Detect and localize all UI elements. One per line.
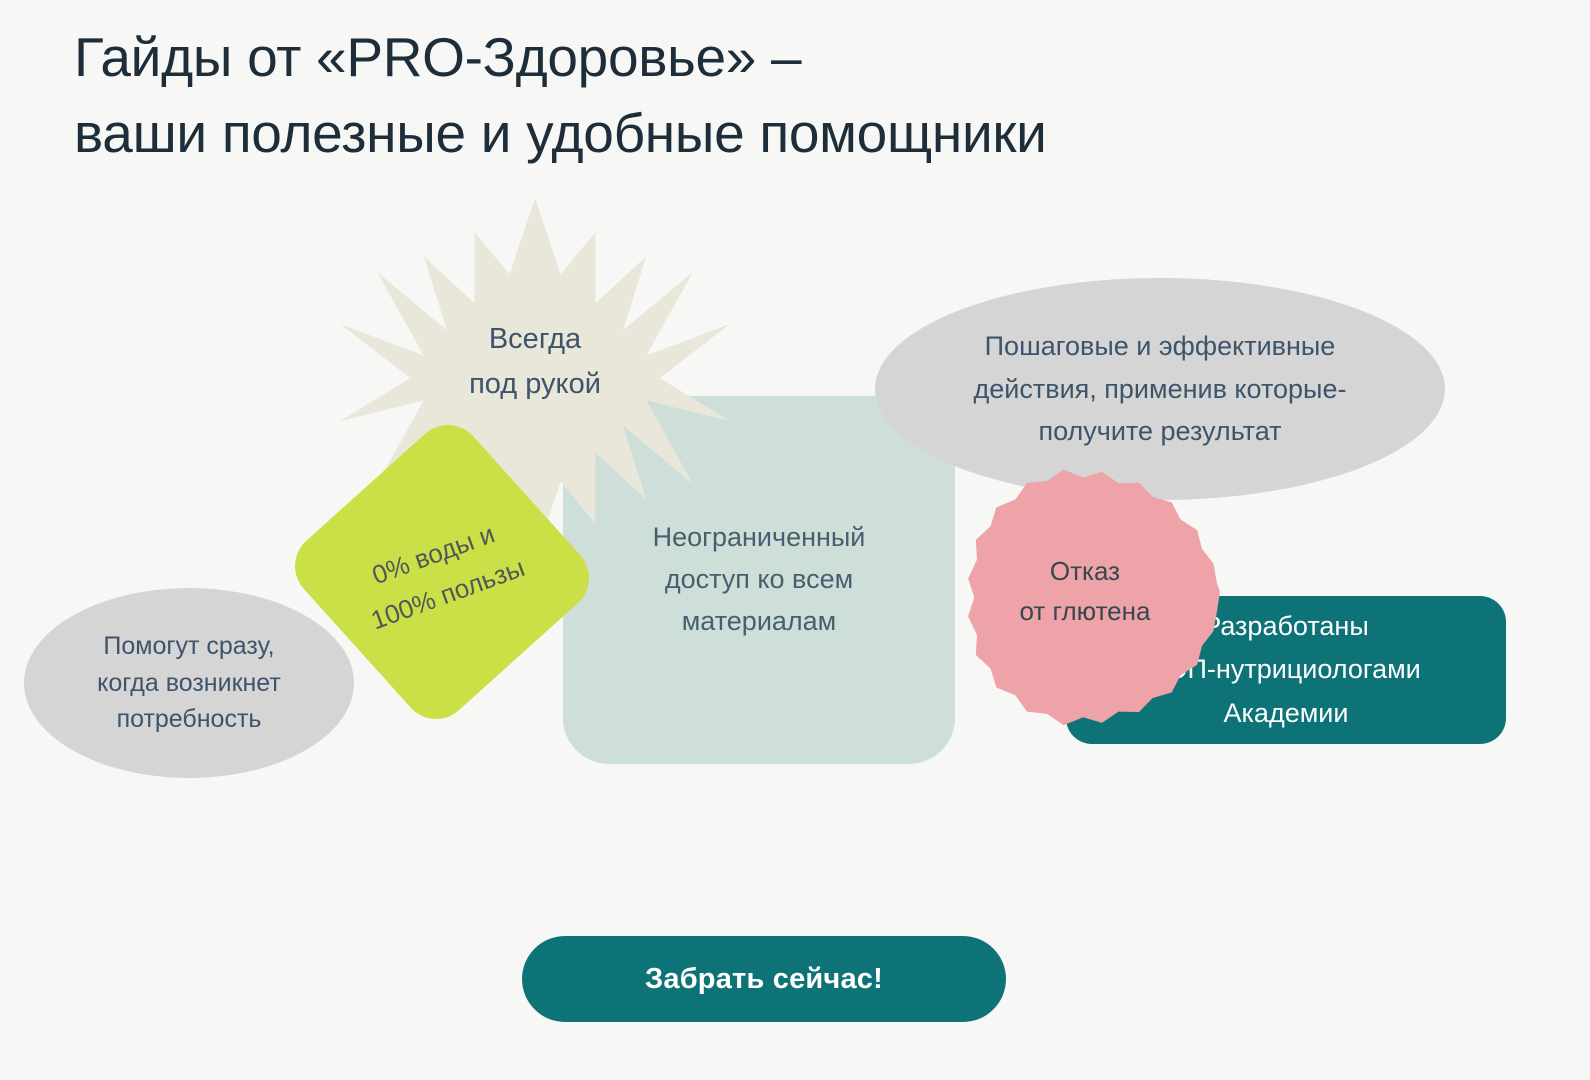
benefit-always-at-hand-label: Всегда под рукой [469, 317, 601, 439]
page-title: Гайды от «PRO-Здоровье» – ваши полезные … [74, 20, 1354, 172]
claim-now-button[interactable]: Забрать сейчас! [522, 936, 1006, 1022]
promo-banner: Гайды от «PRO-Здоровье» – ваши полезные … [0, 0, 1590, 1080]
benefit-zero-water: 0% воды и 100% пользы [296, 466, 586, 682]
benefit-step-by-step-label: Пошаговые и эффективные действия, примен… [974, 325, 1347, 453]
benefit-gluten-free: Отказ от глютена [950, 457, 1220, 727]
benefit-help-label: Помогут сразу, когда возникнет потребнос… [97, 628, 281, 738]
benefit-gluten-free-label: Отказ от глютена [1020, 552, 1151, 631]
